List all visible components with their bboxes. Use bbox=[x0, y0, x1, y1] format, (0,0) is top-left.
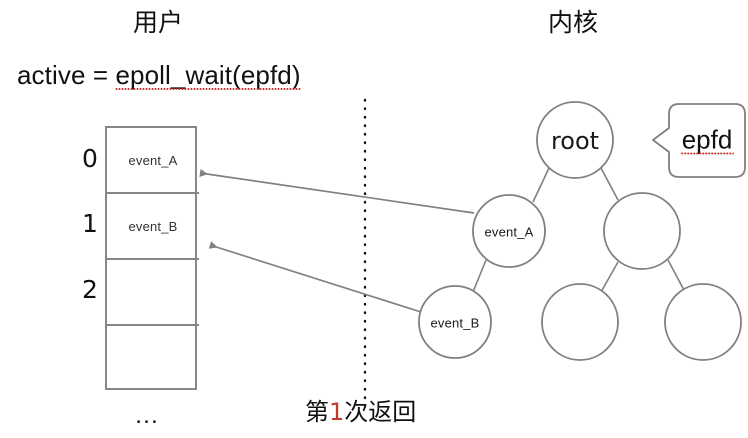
array-index-0: 0 bbox=[82, 146, 98, 171]
code-assignment-prefix: active = bbox=[17, 60, 115, 90]
tree-node-right-child bbox=[604, 193, 680, 269]
kernel-header-label: 内核 bbox=[548, 10, 598, 35]
array-index-1: 1 bbox=[82, 211, 98, 236]
return-pass-caption: 第1次返回 bbox=[305, 400, 416, 424]
array-cell-1: event_B bbox=[107, 194, 199, 260]
code-expression: active = epoll_wait(epfd) bbox=[17, 62, 301, 88]
tree-node-leaf-left bbox=[542, 284, 618, 360]
copy-arrow-event-a bbox=[200, 173, 474, 213]
tree-node-event-a-label: event_A bbox=[484, 225, 533, 240]
tree-edge-root-to-right-child bbox=[601, 168, 618, 200]
array-cell-1-label: event_B bbox=[128, 219, 177, 234]
tree-node-leaf-right bbox=[665, 284, 741, 360]
caption-prefix: 第 bbox=[305, 398, 329, 426]
tree-edge-right-child-to-left-leaf bbox=[601, 262, 618, 292]
caption-number: 1 bbox=[329, 398, 344, 426]
diagram-canvas: 用户 内核 active = epoll_wait(epfd) event_A … bbox=[0, 0, 748, 438]
tree-edge-event-a-to-event-b bbox=[473, 260, 486, 292]
tree-node-event-b-label: event_B bbox=[430, 316, 479, 331]
userspace-header-label: 用户 bbox=[133, 10, 183, 35]
array-cell-0-label: event_A bbox=[128, 153, 177, 168]
array-cell-0: event_A bbox=[107, 128, 199, 194]
tree-edge-root-to-event-a bbox=[533, 168, 549, 202]
epfd-callout-label: epfd bbox=[682, 125, 733, 156]
array-ellipsis: … bbox=[134, 403, 161, 428]
copy-arrow-event-b bbox=[210, 245, 421, 312]
array-index-2: 2 bbox=[82, 277, 98, 302]
array-cell-3 bbox=[107, 326, 199, 392]
tree-edge-right-child-to-right-leaf bbox=[668, 260, 685, 292]
caption-suffix: 次返回 bbox=[344, 398, 416, 426]
tree-node-root-label: root bbox=[551, 127, 599, 155]
array-cell-2 bbox=[107, 260, 199, 326]
user-event-array: event_A event_B bbox=[105, 126, 197, 390]
code-call-expression: epoll_wait(epfd) bbox=[115, 62, 300, 88]
